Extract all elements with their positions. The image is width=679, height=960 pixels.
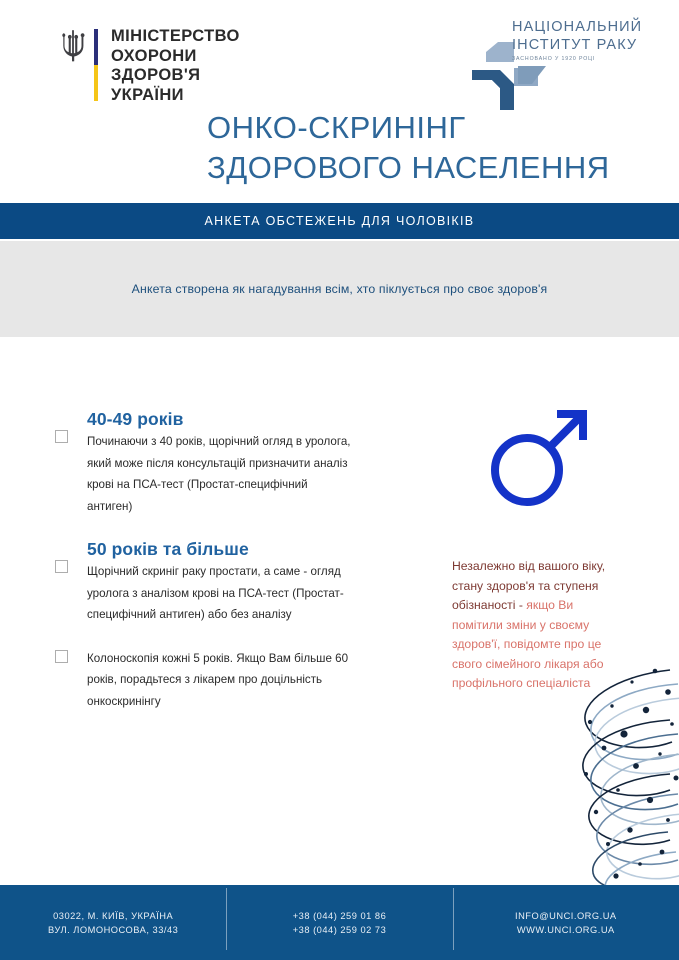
footer-phones: +38 (044) 259 01 86 +38 (044) 259 02 73 bbox=[226, 909, 452, 937]
section-banner-label: АНКЕТА ОБСТЕЖЕНЬ ДЛЯ ЧОЛОВІКІВ bbox=[205, 214, 475, 228]
ministry-of-health-logo: МІНІСТЕРСТВО ОХОРОНИ ЗДОРОВ'Я УКРАЇНИ bbox=[60, 27, 240, 105]
nci-line-2: ІНСТИТУТ РАКУ bbox=[512, 36, 642, 54]
footer-phone-2[interactable]: +38 (044) 259 02 73 bbox=[226, 923, 452, 937]
nci-tagline: ЗАСНОВАНО У 1920 РОЦІ bbox=[512, 56, 642, 62]
national-cancer-institute-logo: НАЦІОНАЛЬНИЙ ІНСТИТУТ РАКУ ЗАСНОВАНО У 1… bbox=[470, 18, 640, 118]
group-body-40-49: Починаючи з 40 років, щорічний огляд в у… bbox=[87, 431, 352, 517]
ministry-line-1: МІНІСТЕРСТВО bbox=[111, 27, 240, 47]
footer-website[interactable]: WWW.UNCI.ORG.UA bbox=[453, 923, 679, 937]
footer-web: INFO@UNCI.ORG.UA WWW.UNCI.ORG.UA bbox=[453, 909, 679, 937]
footer-address: 03022, М. КИЇВ, УКРАЇНА ВУЛ. ЛОМОНОСОВА,… bbox=[0, 909, 226, 937]
checkbox-colonoscopy[interactable] bbox=[55, 650, 68, 663]
checklist-group-colonoscopy: Колоноскопія кожні 5 років. Якщо Вам біл… bbox=[52, 648, 352, 713]
checkbox-40-49[interactable] bbox=[55, 430, 68, 443]
page-footer: 03022, М. КИЇВ, УКРАЇНА ВУЛ. ЛОМОНОСОВА,… bbox=[0, 885, 679, 960]
spiral-network-graphic bbox=[520, 662, 679, 892]
footer-email[interactable]: INFO@UNCI.ORG.UA bbox=[453, 909, 679, 923]
nci-name: НАЦІОНАЛЬНИЙ ІНСТИТУТ РАКУ ЗАСНОВАНО У 1… bbox=[512, 18, 642, 62]
main-content: 40-49 років Починаючи з 40 років, щорічн… bbox=[0, 337, 679, 885]
nci-line-1: НАЦІОНАЛЬНИЙ bbox=[512, 18, 642, 36]
group-body-50-plus: Щорічний скриніг раку простати, а саме -… bbox=[87, 561, 352, 626]
subtitle-band: Анкета створена як нагадування всім, хто… bbox=[0, 241, 679, 337]
male-gender-symbol bbox=[487, 405, 592, 510]
ukraine-trident-emblem bbox=[60, 29, 86, 63]
footer-phone-1[interactable]: +38 (044) 259 01 86 bbox=[226, 909, 452, 923]
screening-checklist: 40-49 років Починаючи з 40 років, щорічн… bbox=[52, 409, 352, 734]
checklist-group-40-49: 40-49 років Починаючи з 40 років, щорічн… bbox=[52, 409, 352, 517]
footer-address-line-2: ВУЛ. ЛОМОНОСОВА, 33/43 bbox=[0, 923, 226, 937]
checklist-group-50-plus: 50 років та більше Щорічний скриніг раку… bbox=[52, 539, 352, 626]
footer-address-line-1: 03022, М. КИЇВ, УКРАЇНА bbox=[0, 909, 226, 923]
page-title: ОНКО-СКРИНІНГ ЗДОРОВОГО НАСЕЛЕННЯ bbox=[207, 108, 610, 188]
subtitle-text: Анкета створена як нагадування всім, хто… bbox=[132, 282, 548, 296]
ministry-line-4: УКРАЇНИ bbox=[111, 86, 240, 106]
ministry-name: МІНІСТЕРСТВО ОХОРОНИ ЗДОРОВ'Я УКРАЇНИ bbox=[111, 27, 240, 105]
page-header: МІНІСТЕРСТВО ОХОРОНИ ЗДОРОВ'Я УКРАЇНИ НА… bbox=[0, 0, 679, 200]
section-banner: АНКЕТА ОБСТЕЖЕНЬ ДЛЯ ЧОЛОВІКІВ bbox=[0, 203, 679, 239]
group-body-colonoscopy: Колоноскопія кожні 5 років. Якщо Вам біл… bbox=[87, 648, 352, 713]
page-title-line-2: ЗДОРОВОГО НАСЕЛЕННЯ bbox=[207, 148, 610, 188]
ukraine-flag-bar bbox=[94, 29, 98, 101]
group-heading-50-plus: 50 років та більше bbox=[87, 539, 352, 560]
ministry-line-2: ОХОРОНИ bbox=[111, 47, 240, 67]
page-title-line-1: ОНКО-СКРИНІНГ bbox=[207, 108, 610, 148]
ministry-line-3: ЗДОРОВ'Я bbox=[111, 66, 240, 86]
checkbox-50-plus[interactable] bbox=[55, 560, 68, 573]
group-heading-40-49: 40-49 років bbox=[87, 409, 352, 430]
